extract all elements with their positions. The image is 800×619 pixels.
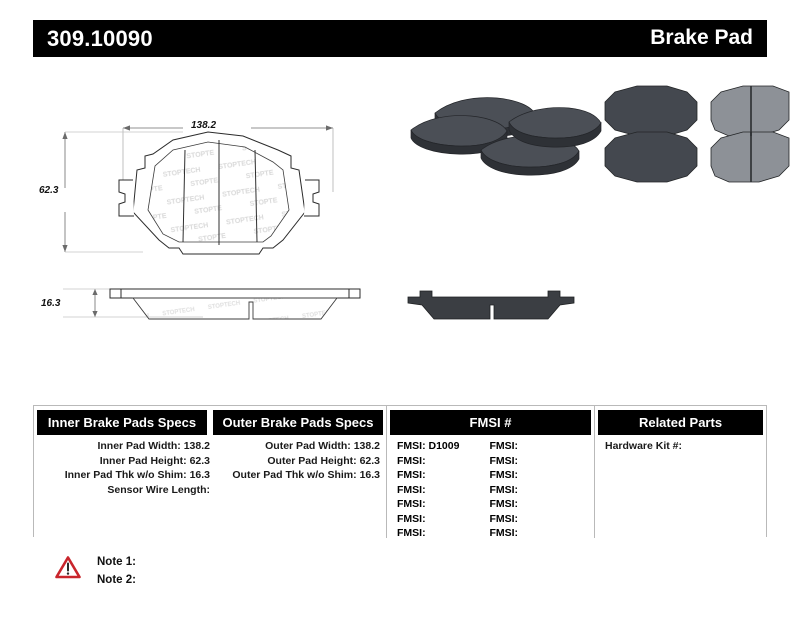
fmsi-cell: FMSI: — [489, 439, 518, 454]
fmsi-label: FMSI: — [397, 484, 426, 496]
pad-backing-plate — [110, 289, 360, 298]
fmsi-cell: FMSI: — [397, 512, 485, 527]
spec-row: Outer Pad Thk w/o Shim: 16.3 — [210, 468, 380, 483]
fmsi-cell: FMSI: — [489, 512, 518, 527]
fmsi-cell: FMSI: — [397, 454, 485, 469]
column-body-inner: Inner Pad Width: 138.2 Inner Pad Height:… — [34, 439, 210, 538]
fmsi-cell: FMSI: — [489, 454, 518, 469]
column-header-fmsi: FMSI # — [390, 410, 591, 435]
fmsi-cell: FMSI: — [397, 483, 485, 498]
fmsi-label: FMSI: — [489, 469, 518, 481]
header-bar: 309.10090 Brake Pad — [33, 20, 767, 57]
column-outer-specs: Outer Brake Pads Specs Outer Pad Width: … — [210, 406, 386, 538]
column-header-inner: Inner Brake Pads Specs — [37, 410, 207, 435]
fmsi-cell: FMSI: D1009 — [397, 439, 485, 454]
spec-label: Outer Pad Height: — [267, 455, 356, 467]
spec-value: 16.3 — [360, 469, 380, 481]
note-item: Note 1: — [97, 553, 136, 571]
fmsi-label: FMSI: — [489, 455, 518, 467]
note-list: Note 1: Note 2: — [97, 553, 136, 589]
fmsi-label: FMSI: — [489, 527, 518, 539]
fmsi-cell: FMSI: — [397, 526, 485, 541]
column-body-outer: Outer Pad Width: 138.2 Outer Pad Height:… — [210, 439, 386, 538]
column-header-related-parts: Related Parts — [598, 410, 763, 435]
spec-row: Inner Pad Height: 62.3 — [34, 454, 210, 469]
column-body-related-parts: Hardware Kit #: — [595, 439, 766, 538]
spec-value: 138.2 — [184, 440, 210, 452]
pad-friction-block — [133, 298, 337, 319]
spec-row: Inner Pad Width: 138.2 — [34, 439, 210, 454]
spec-sheet-page: 309.10090 Brake Pad STOPTECH STOPTECH ST… — [0, 0, 800, 619]
spec-value: 138.2 — [354, 440, 380, 452]
spec-label: Hardware Kit #: — [605, 440, 682, 452]
spec-row: Sensor Wire Length: — [34, 483, 210, 498]
spec-label: Inner Pad Width: — [97, 440, 180, 452]
part-number: 309.10090 — [47, 26, 153, 52]
fmsi-label: FMSI: — [397, 440, 426, 452]
fmsi-cell: FMSI: — [489, 483, 518, 498]
spec-value: 16.3 — [190, 469, 210, 481]
fmsi-column-right: FMSI: FMSI: FMSI: FMSI: — [489, 439, 518, 541]
fmsi-cell: FMSI: — [489, 468, 518, 483]
warning-triangle-icon — [55, 556, 81, 579]
dimension-thickness-label: 16.3 — [41, 298, 60, 309]
fmsi-label: FMSI: — [397, 455, 426, 467]
fmsi-label: FMSI: — [489, 440, 518, 452]
spec-label: Inner Pad Height: — [100, 455, 187, 467]
spec-label: Inner Pad Thk w/o Shim: — [65, 469, 187, 481]
spec-label: Outer Pad Thk w/o Shim: — [232, 469, 356, 481]
spec-row: Inner Pad Thk w/o Shim: 16.3 — [34, 468, 210, 483]
column-fmsi: FMSI # FMSI: D1009 FMSI: FMSI: — [387, 406, 594, 538]
fmsi-cell: FMSI: — [489, 497, 518, 512]
spec-value: 62.3 — [360, 455, 380, 467]
drawing-area: STOPTECH STOPTECH STOPTECH — [33, 70, 767, 390]
dimension-height-label: 62.3 — [39, 185, 58, 196]
fmsi-grid: FMSI: D1009 FMSI: FMSI: FMSI: — [397, 439, 518, 541]
fmsi-label: FMSI: — [397, 498, 426, 510]
column-header-outer: Outer Brake Pads Specs — [213, 410, 383, 435]
fmsi-label: FMSI: — [397, 469, 426, 481]
spec-label: Sensor Wire Length: — [107, 484, 210, 496]
product-photo-angled-set — [405, 78, 575, 188]
fmsi-label: FMSI: — [489, 513, 518, 525]
spec-label: Outer Pad Width: — [265, 440, 351, 452]
fmsi-label: FMSI: — [489, 484, 518, 496]
note-item: Note 2: — [97, 571, 136, 589]
fmsi-column-left: FMSI: D1009 FMSI: FMSI: FMSI: — [397, 439, 485, 541]
spec-row: Outer Pad Width: 138.2 — [210, 439, 380, 454]
dimension-width-label: 138.2 — [191, 120, 216, 131]
spec-table: Inner Brake Pads Specs Inner Pad Width: … — [33, 405, 767, 537]
fmsi-cell: FMSI: — [489, 526, 518, 541]
fmsi-cell: FMSI: — [397, 497, 485, 512]
product-photo-side — [398, 275, 588, 335]
fmsi-label: FMSI: — [397, 527, 426, 539]
spec-row: Outer Pad Height: 62.3 — [210, 454, 380, 469]
page-title: Brake Pad — [650, 26, 753, 50]
fmsi-value: D1009 — [429, 440, 460, 452]
column-inner-specs: Inner Brake Pads Specs Inner Pad Width: … — [34, 406, 210, 538]
spec-value: 62.3 — [190, 455, 210, 467]
fmsi-label: FMSI: — [489, 498, 518, 510]
brake-pad-side-drawing — [63, 275, 403, 345]
fmsi-cell: FMSI: — [397, 468, 485, 483]
product-photo-flat-set — [593, 80, 793, 200]
spec-row: Hardware Kit #: — [605, 439, 766, 454]
fmsi-label: FMSI: — [397, 513, 426, 525]
column-related-parts: Related Parts Hardware Kit #: — [595, 406, 766, 538]
